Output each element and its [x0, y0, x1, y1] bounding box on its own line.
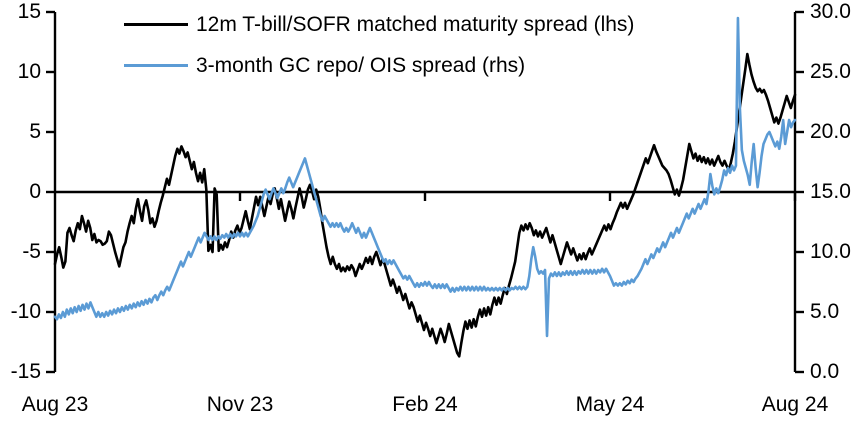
legend-item-0: 12m T-bill/SOFR matched maturity spread …: [124, 14, 634, 35]
x-axis-tick-label: May 24: [530, 394, 690, 415]
left-axis-tick-label: -10: [0, 301, 41, 322]
right-axis-tick-label: 10.0: [810, 241, 851, 262]
left-axis-tick-label: 10: [0, 61, 41, 82]
left-axis-tick-label: -15: [0, 361, 41, 382]
right-axis-tick-label: 0.0: [810, 361, 839, 382]
right-axis-tick-label: 20.0: [810, 121, 851, 142]
left-axis-tick-label: -5: [0, 241, 41, 262]
right-axis-tick-label: 5.0: [810, 301, 839, 322]
x-axis-tick-label: Aug 24: [715, 394, 852, 415]
series-line-tbill-sofr: [55, 54, 795, 356]
chart-container: 151050-5-10-1530.025.020.015.010.05.00.0…: [0, 0, 852, 432]
legend-label-1: 3-month GC repo/ OIS spread (rhs): [196, 55, 525, 76]
right-axis-tick-label: 25.0: [810, 61, 851, 82]
legend-item-1: 3-month GC repo/ OIS spread (rhs): [124, 55, 525, 76]
left-axis-tick-label: 15: [0, 1, 41, 22]
x-axis-tick-label: Feb 24: [345, 394, 505, 415]
x-axis-tick-label: Nov 23: [160, 394, 320, 415]
x-axis-tick-label: Aug 23: [0, 394, 135, 415]
legend-label-0: 12m T-bill/SOFR matched maturity spread …: [196, 14, 634, 35]
left-axis-tick-label: 0: [0, 181, 41, 202]
right-axis-tick-label: 30.0: [810, 1, 851, 22]
legend-swatch-line-blue: [124, 64, 188, 67]
right-axis-tick-label: 15.0: [810, 181, 851, 202]
legend-swatch-line-black: [124, 23, 188, 26]
left-axis-tick-label: 5: [0, 121, 41, 142]
